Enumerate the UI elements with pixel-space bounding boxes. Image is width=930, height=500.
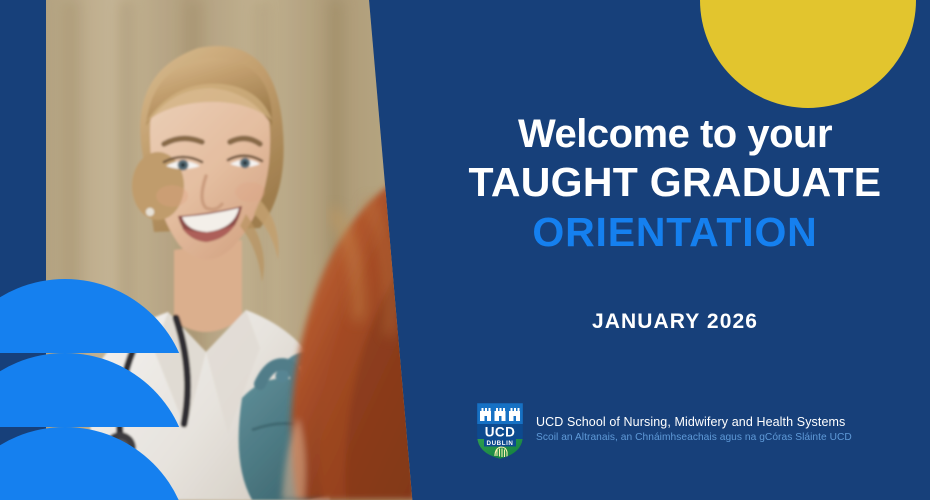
clinic-photo-illustration [46, 0, 416, 500]
event-date: JANUARY 2026 [420, 310, 930, 334]
svg-text:DUBLIN: DUBLIN [487, 440, 514, 447]
title-line-taught-graduate: TAUGHT GRADUATE [420, 157, 930, 207]
title-line-orientation: ORIENTATION [420, 207, 930, 257]
school-name-irish: Scoil an Altranais, an Chnáimhseachais a… [536, 431, 852, 446]
orientation-slide: Welcome to your TAUGHT GRADUATE ORIENTAT… [0, 0, 930, 500]
svg-text:UCD: UCD [485, 425, 515, 440]
school-name-english: UCD School of Nursing, Midwifery and Hea… [536, 414, 852, 431]
content-column: Welcome to your TAUGHT GRADUATE ORIENTAT… [420, 0, 930, 500]
title-line-welcome: Welcome to your [420, 112, 930, 157]
page-title: Welcome to your TAUGHT GRADUATE ORIENTAT… [420, 112, 930, 257]
ucd-school-logo: UCD DUBLIN [474, 400, 852, 462]
logo-wordmark: UCD School of Nursing, Midwifery and Hea… [536, 400, 852, 446]
clinic-photo [46, 0, 416, 500]
ucd-dublin-crest-icon: UCD DUBLIN [474, 400, 526, 462]
crest-shield: UCD DUBLIN [474, 400, 526, 462]
